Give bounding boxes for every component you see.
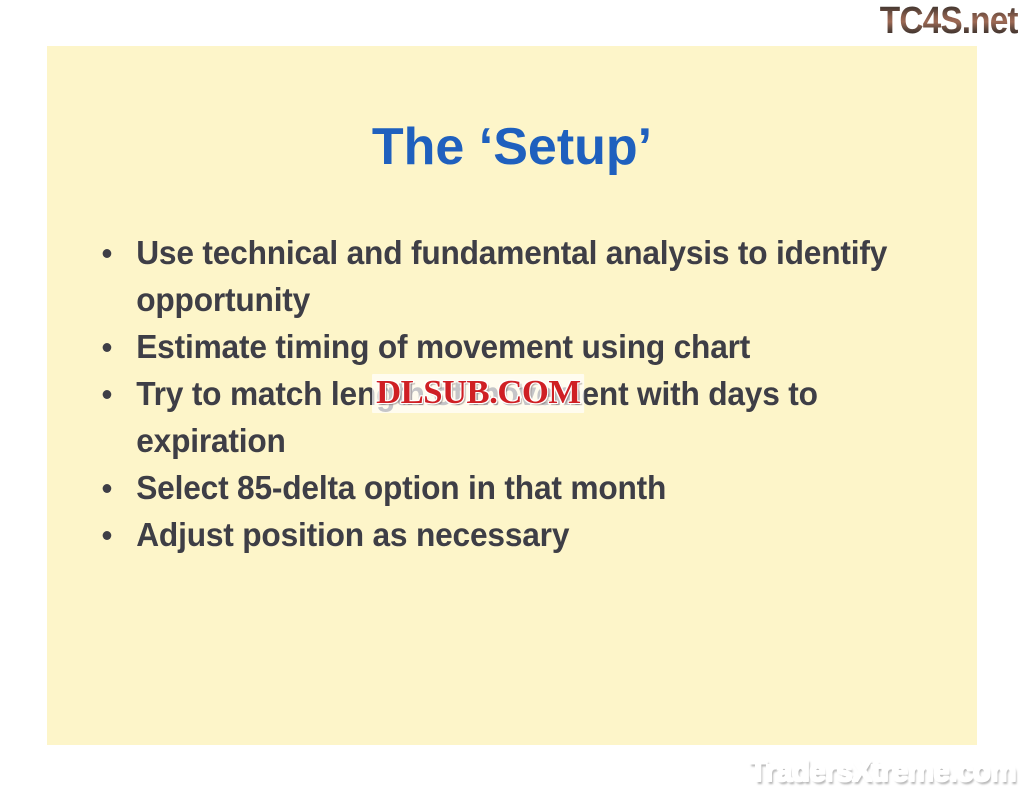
watermark-overlay: DLSUB.COM (372, 374, 585, 413)
bullet-dot-icon (103, 249, 112, 258)
bullet-dot-icon (103, 531, 112, 540)
brand-logo: TC4S.net (880, 0, 1018, 42)
list-item: Select 85-delta option in that month (94, 464, 903, 511)
bullet-dot-icon (103, 390, 112, 399)
bullet-dot-icon (103, 343, 112, 352)
list-item-label: Use technical and fundamental analysis t… (136, 234, 887, 318)
list-item: Adjust position as necessary (94, 511, 903, 558)
list-item: Estimate timing of movement using chart (94, 323, 903, 370)
list-item-label: Select 85-delta option in that month (136, 469, 666, 506)
bullet-dot-icon (103, 484, 112, 493)
list-item-label: Adjust position as necessary (136, 516, 569, 553)
footer-wordmark: TradersXtreme.com (749, 753, 1016, 789)
footer-wordmark-label: TradersXtreme.com (749, 753, 1016, 788)
list-item: Use technical and fundamental analysis t… (94, 229, 903, 323)
list-item-label: Estimate timing of movement using chart (136, 328, 750, 365)
page-title: The ‘Setup’ (47, 118, 977, 176)
